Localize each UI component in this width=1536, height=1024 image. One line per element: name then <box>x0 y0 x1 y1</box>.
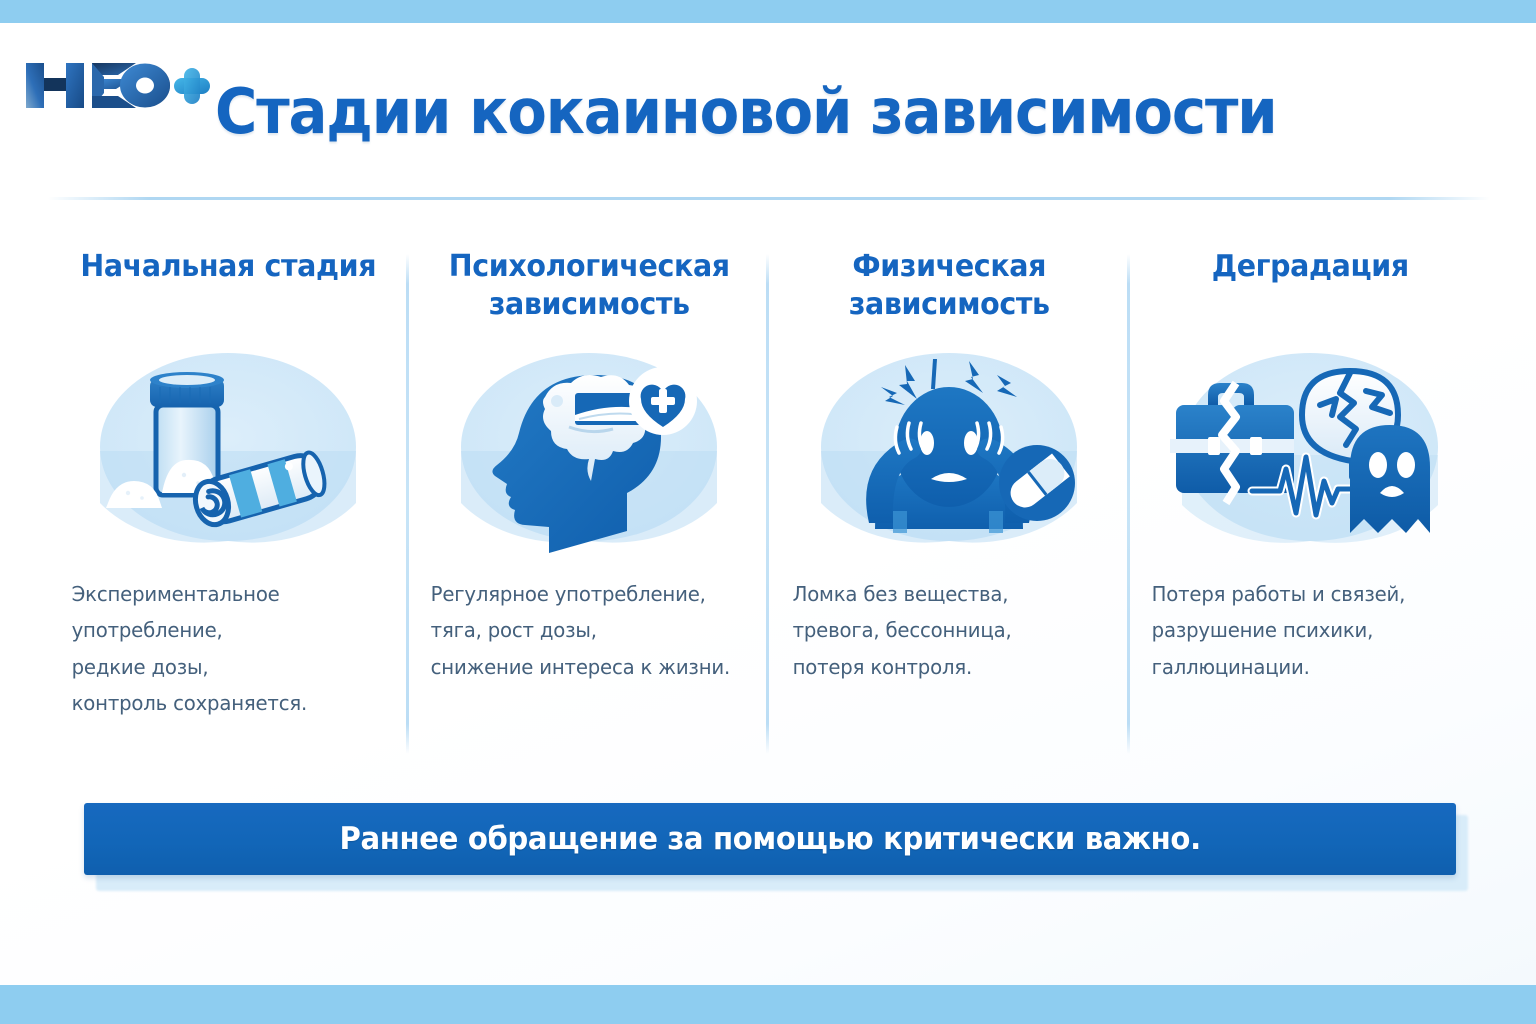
call-to-action-banner[interactable]: Раннее обращение за помощью критически в… <box>84 803 1456 875</box>
stage-description-1: Экспериментальное употребление, редкие д… <box>62 576 381 722</box>
banner-text: Раннее обращение за помощью критически в… <box>339 821 1200 857</box>
stages-row: Начальная стадия <box>48 248 1490 768</box>
stage-description-4: Потеря работы и связей, разрушение психи… <box>1144 576 1463 685</box>
stage-heading-2: Психологическая зависимость <box>431 248 747 328</box>
stage-illustration-4 <box>1144 338 1477 558</box>
stage-card-4: Деградация <box>1130 248 1491 768</box>
stage-description-3: Ломка без вещества, тревога, бессонница,… <box>783 576 1102 685</box>
distressed-person-withdrawal-icon <box>809 343 1089 553</box>
stage-heading-4: Деградация <box>1152 248 1468 328</box>
bottom-accent-band <box>0 985 1536 1024</box>
stage-heading-1: Начальная стадия <box>70 248 386 328</box>
neo-plus-logo-icon <box>22 53 212 119</box>
stage-card-2: Психологическая зависимость <box>409 248 770 768</box>
broken-briefcase-cracked-brain-ghost-icon <box>1170 343 1450 553</box>
header-divider <box>48 197 1490 200</box>
stage-description-2: Регулярное употребление, тяга, рост дозы… <box>423 576 742 685</box>
top-accent-band <box>0 0 1536 23</box>
infographic-poster: Стадии кокаиновой зависимости Начальная … <box>0 0 1536 1024</box>
stage-illustration-3 <box>783 338 1116 558</box>
page-title: Стадии кокаиновой зависимости <box>215 75 1277 148</box>
header: Стадии кокаиновой зависимости <box>0 23 1536 198</box>
stage-illustration-1 <box>62 338 395 558</box>
stage-illustration-2 <box>423 338 756 558</box>
stage-heading-3: Физическая зависимость <box>791 248 1107 328</box>
head-brain-with-heart-plus-icon <box>449 343 729 553</box>
stage-card-1: Начальная стадия <box>48 248 409 768</box>
powder-jar-and-rolled-note-icon <box>88 343 368 553</box>
brand-logo[interactable] <box>22 51 212 121</box>
stage-card-3: Физическая зависимость <box>769 248 1130 768</box>
